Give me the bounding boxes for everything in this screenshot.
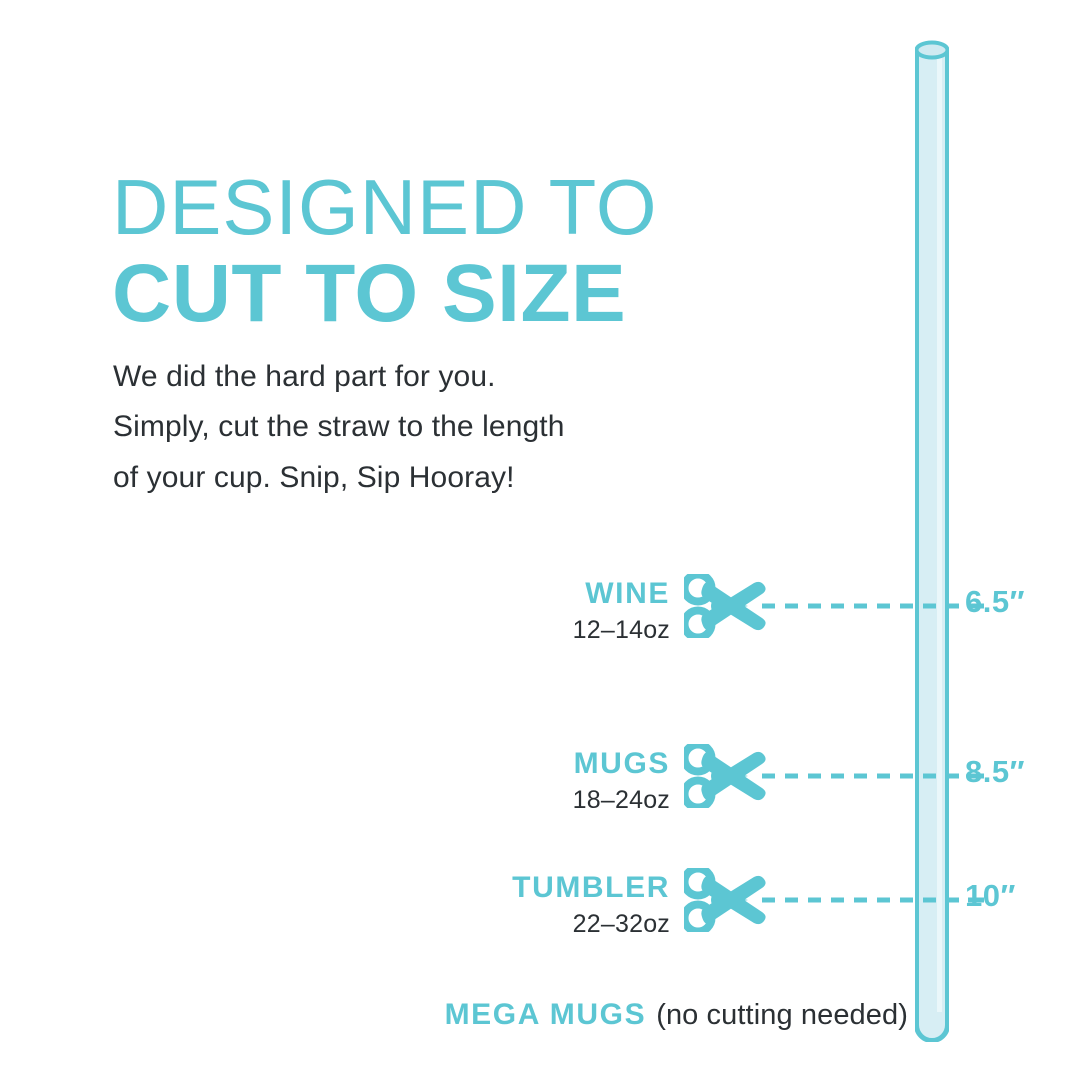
measure-value: 8.5″ xyxy=(965,754,1025,790)
headline-line-1: DESIGNED TO xyxy=(112,169,658,245)
leader-line xyxy=(762,603,984,609)
leader-line xyxy=(762,773,984,779)
headline-line-2: CUT TO SIZE xyxy=(112,254,658,334)
vessel-label-group: TUMBLER 22–32oz xyxy=(512,872,670,937)
vessel-name: MEGA MUGS xyxy=(445,998,647,1031)
vessel-name: MUGS xyxy=(573,748,670,780)
no-cut-row: MEGA MUGS(no cutting needed) xyxy=(0,1000,1080,1046)
no-cut-note: (no cutting needed) xyxy=(656,999,908,1031)
cut-row-tumbler: TUMBLER 22–32oz xyxy=(0,872,1080,952)
cut-row-wine: WINE 12–14oz xyxy=(0,578,1080,658)
vessel-label-group: WINE 12–14oz xyxy=(573,578,670,643)
leader-line xyxy=(762,897,984,903)
measure-value: 6.5″ xyxy=(965,584,1025,620)
body-line-3: of your cup. Snip, Sip Hooray! xyxy=(113,453,565,503)
vessel-name: TUMBLER xyxy=(512,872,670,904)
measure-value: 10″ xyxy=(965,878,1016,914)
vessel-capacity: 12–14oz xyxy=(573,617,670,643)
body-copy: We did the hard part for you. Simply, cu… xyxy=(113,352,565,503)
vessel-capacity: 22–32oz xyxy=(512,911,670,937)
cut-row-mugs: MUGS 18–24oz xyxy=(0,748,1080,828)
body-line-1: We did the hard part for you. xyxy=(113,352,565,402)
page-title: DESIGNED TO CUT TO SIZE xyxy=(112,169,658,334)
vessel-name: WINE xyxy=(573,578,670,610)
vessel-label-group: MUGS 18–24oz xyxy=(573,748,670,813)
vessel-capacity: 18–24oz xyxy=(573,787,670,813)
infographic-canvas: DESIGNED TO CUT TO SIZE We did the hard … xyxy=(0,0,1080,1080)
body-line-2: Simply, cut the straw to the length xyxy=(113,402,565,452)
